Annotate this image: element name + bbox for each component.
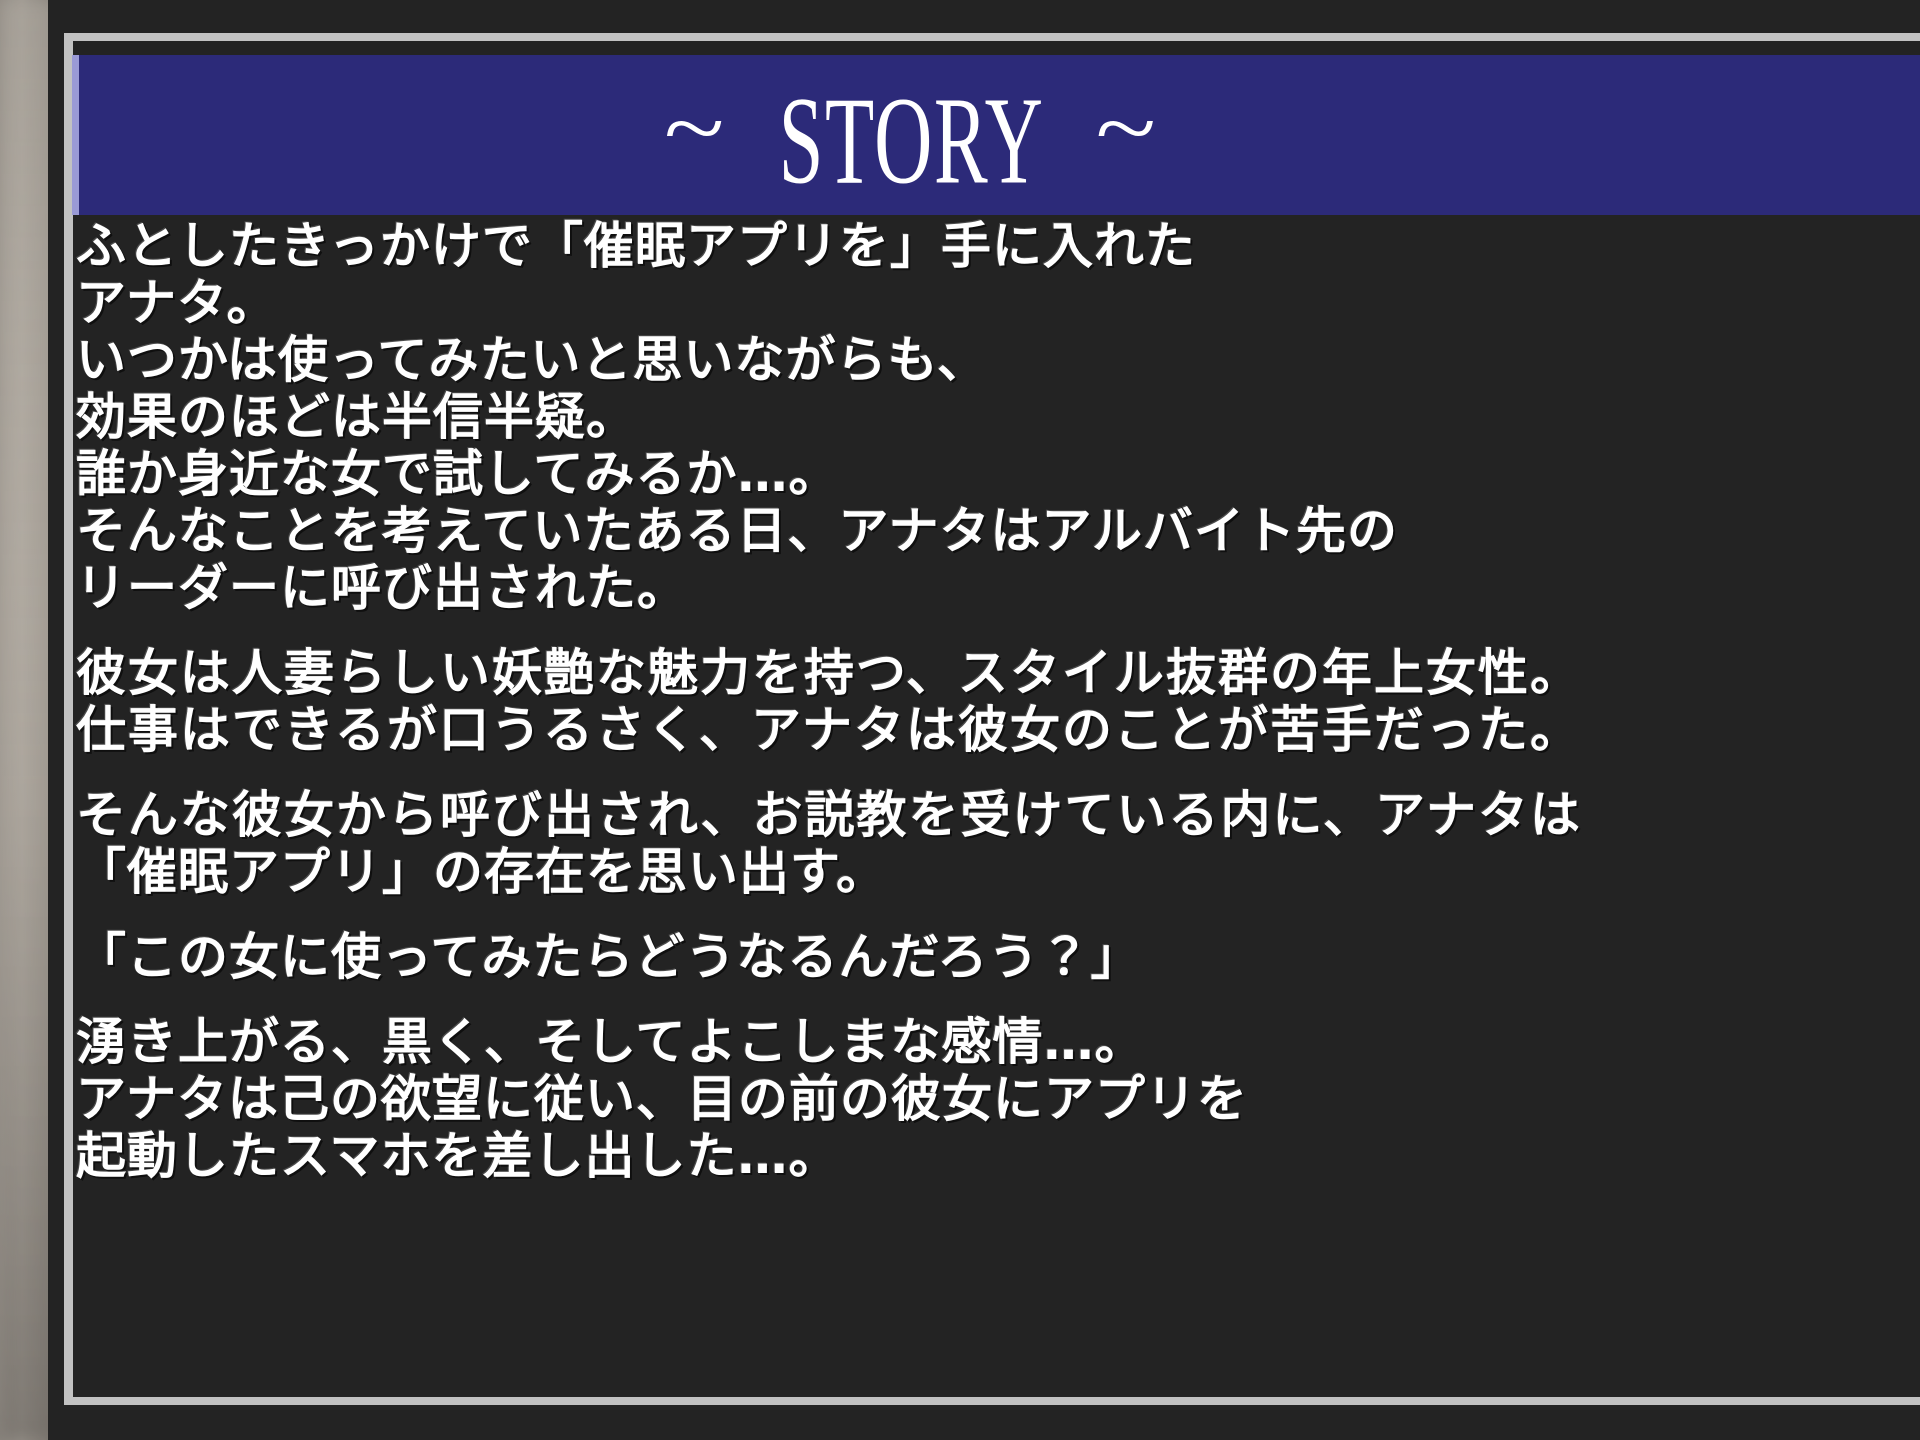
story-line: 「催眠アプリ」の存在を思い出す。 <box>76 844 1866 901</box>
story-paragraph: 「この女に使ってみたらどうなるんだろう？」 <box>76 929 1866 986</box>
story-paragraph: 彼女は人妻らしい妖艶な魅力を持つ、スタイル抜群の年上女性。仕事はできるが口うるさ… <box>76 645 1866 759</box>
story-text-body: ふとしたきっかけで「催眠アプリを」手に入れたアナタ。いつかは使ってみたいと思いな… <box>76 218 1866 1185</box>
story-line: 効果のほどは半信半疑。 <box>76 389 1866 446</box>
title-tilde-left: ~ <box>664 83 727 173</box>
story-line: そんなことを考えていたある日、アナタはアルバイト先の <box>76 503 1866 560</box>
story-line: 誰か身近な女で試してみるか…。 <box>76 446 1866 503</box>
story-paragraph: そんな彼女から呼び出され、お説教を受けている内に、アナタは「催眠アプリ」の存在を… <box>76 787 1866 901</box>
story-line: 「この女に使ってみたらどうなるんだろう？」 <box>76 929 1866 986</box>
screenshot-stage: ~STORY~ ふとしたきっかけで「催眠アプリを」手に入れたアナタ。いつかは使っ… <box>0 0 1920 1440</box>
story-paragraph: ふとしたきっかけで「催眠アプリを」手に入れたアナタ。いつかは使ってみたいと思いな… <box>76 218 1866 617</box>
story-line: 仕事はできるが口うるさく、アナタは彼女のことが苦手だった。 <box>76 702 1866 759</box>
story-line: アナタは己の欲望に従い、目の前の彼女にアプリを <box>76 1071 1866 1128</box>
title-word: STORY <box>778 79 1044 204</box>
story-line: ふとしたきっかけで「催眠アプリを」手に入れた <box>76 218 1866 275</box>
story-line: 起動したスマホを差し出した…。 <box>76 1128 1866 1185</box>
story-line: いつかは使ってみたいと思いながらも、 <box>76 332 1866 389</box>
story-line: そんな彼女から呼び出され、お説教を受けている内に、アナタは <box>76 787 1866 844</box>
story-line: 彼女は人妻らしい妖艶な魅力を持つ、スタイル抜群の年上女性。 <box>76 645 1866 702</box>
story-line: アナタ。 <box>76 275 1866 332</box>
story-line: リーダーに呼び出された。 <box>76 560 1866 617</box>
story-line: 湧き上がる、黒く、そしてよこしまな感情…。 <box>76 1014 1866 1071</box>
page-title: ~STORY~ <box>72 72 1920 197</box>
story-title-banner: ~STORY~ <box>72 55 1920 215</box>
title-tilde-right: ~ <box>1095 83 1158 173</box>
story-paragraph: 湧き上がる、黒く、そしてよこしまな感情…。アナタは己の欲望に従い、目の前の彼女に… <box>76 1014 1866 1185</box>
